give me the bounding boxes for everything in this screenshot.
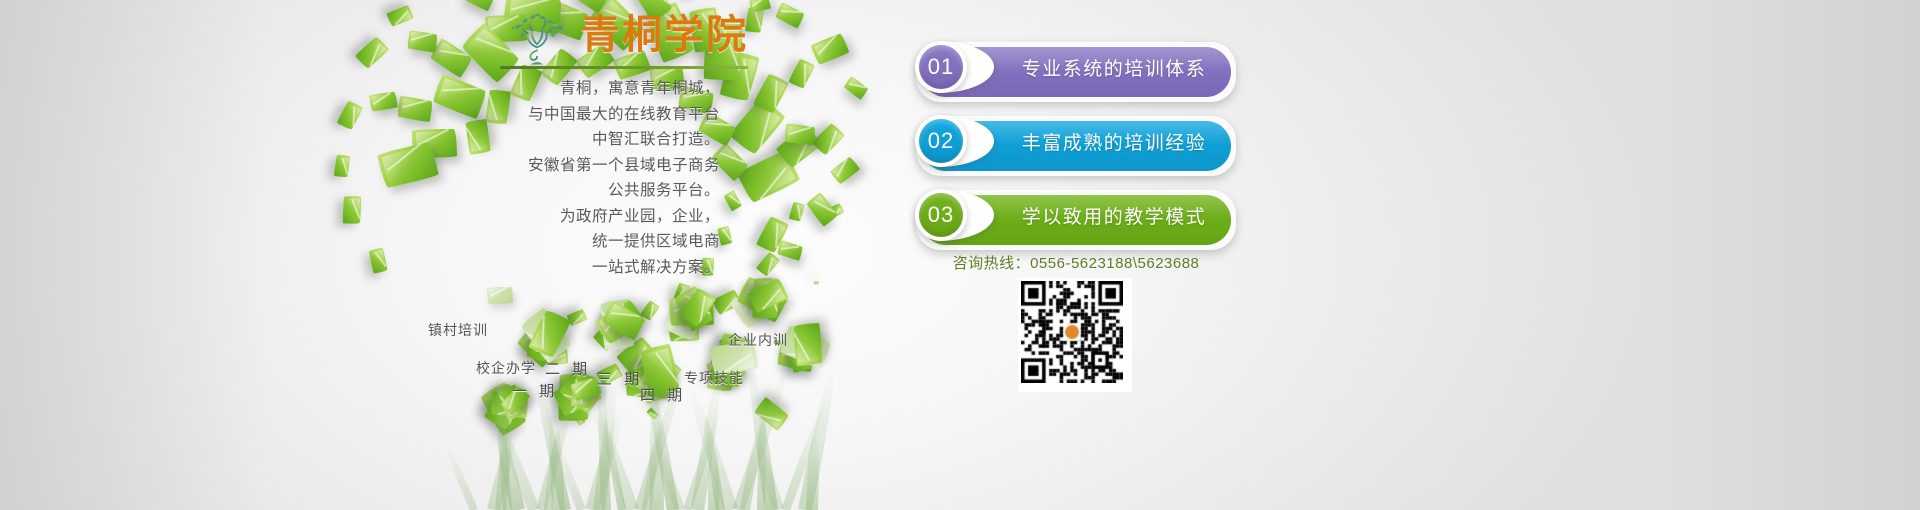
leaf-icon — [354, 36, 389, 70]
grass-decoration — [470, 330, 830, 510]
leaf-icon — [806, 192, 839, 228]
hotline-text: 咨询热线：0556-5623188\5623688 — [916, 252, 1236, 273]
brand-logo[interactable]: 青桐学院 — [498, 8, 750, 70]
leaf-icon — [787, 58, 815, 90]
leaf-icon — [814, 281, 819, 285]
description-line: 与中国最大的在线教育平台 — [440, 102, 720, 128]
badge-label: 丰富成熟的培训经验 — [1004, 116, 1224, 166]
banner-root: 青桐学院 青桐，寓意青年桐城，与中国最大的在线教育平台中智汇联合打造。安徽省第一… — [0, 0, 1920, 510]
feature-badge-list: 01专业系统的培训体系02丰富成熟的培训经验03学以致用的教学模式 — [916, 42, 1236, 264]
badge-number-circle: 01 — [915, 41, 967, 93]
program-label: 专项技能 — [684, 368, 744, 388]
leaf-icon — [812, 122, 846, 155]
leaf-icon — [461, 0, 498, 12]
description-line: 青桐，寓意青年桐城， — [440, 76, 720, 102]
phase-label: 四 期 — [640, 384, 686, 405]
brand-description: 青桐，寓意青年桐城，与中国最大的在线教育平台中智汇联合打造。安徽省第一个县域电子… — [440, 76, 720, 280]
leaf-icon — [376, 142, 438, 189]
badge-number: 03 — [919, 193, 963, 237]
program-label: 校企办学 — [476, 358, 536, 378]
leaf-icon — [830, 156, 861, 185]
leaf-icon — [775, 2, 806, 29]
badge-number: 01 — [919, 45, 963, 89]
leaf-icon — [756, 251, 781, 277]
leaf-icon — [749, 0, 771, 12]
description-line: 一站式解决方案。 — [440, 255, 720, 281]
badge-number-circle: 03 — [915, 189, 967, 241]
brand-underline — [500, 66, 748, 69]
tree-icon — [498, 10, 576, 66]
leaf-icon — [843, 76, 869, 101]
program-label: 企业内训 — [728, 330, 788, 350]
brand-name: 青桐学院 — [580, 12, 748, 58]
description-line: 公共服务平台。 — [440, 178, 720, 204]
grass-blade — [443, 444, 478, 510]
leaf-icon — [369, 92, 398, 112]
leaf-icon — [333, 154, 351, 178]
description-line: 安徽省第一个县域电子商务 — [440, 153, 720, 179]
leaf-icon — [407, 30, 439, 54]
phase-label: 一 期 — [512, 380, 558, 401]
leaf-icon — [788, 201, 805, 222]
leaf-icon — [487, 287, 513, 304]
leaf-icon — [386, 4, 414, 27]
badge-label: 学以致用的教学模式 — [1004, 190, 1224, 240]
leaf-icon — [342, 195, 362, 224]
description-line: 为政府产业园，企业， — [440, 204, 720, 230]
leaf-icon — [368, 248, 387, 274]
leaf-icon — [776, 239, 804, 262]
badge-label: 专业系统的培训体系 — [1004, 42, 1224, 92]
description-line: 中智汇联合打造。 — [440, 127, 720, 153]
leaf-icon — [810, 33, 849, 65]
phase-label: 二 期 — [545, 358, 591, 379]
leaf-icon — [724, 190, 742, 211]
qr-code[interactable] — [1018, 278, 1132, 392]
program-label: 镇村培训 — [428, 320, 488, 340]
badge-number: 02 — [919, 119, 963, 163]
feature-badge-02[interactable]: 02丰富成熟的培训经验 — [916, 116, 1236, 176]
description-line: 统一提供区域电商 — [440, 229, 720, 255]
leaf-icon — [396, 95, 434, 123]
badge-number-circle: 02 — [915, 115, 967, 167]
feature-badge-01[interactable]: 01专业系统的培训体系 — [916, 42, 1236, 102]
leaf-icon — [336, 100, 363, 131]
phase-label: 三 期 — [597, 368, 643, 389]
feature-badge-03[interactable]: 03学以致用的教学模式 — [916, 190, 1236, 250]
